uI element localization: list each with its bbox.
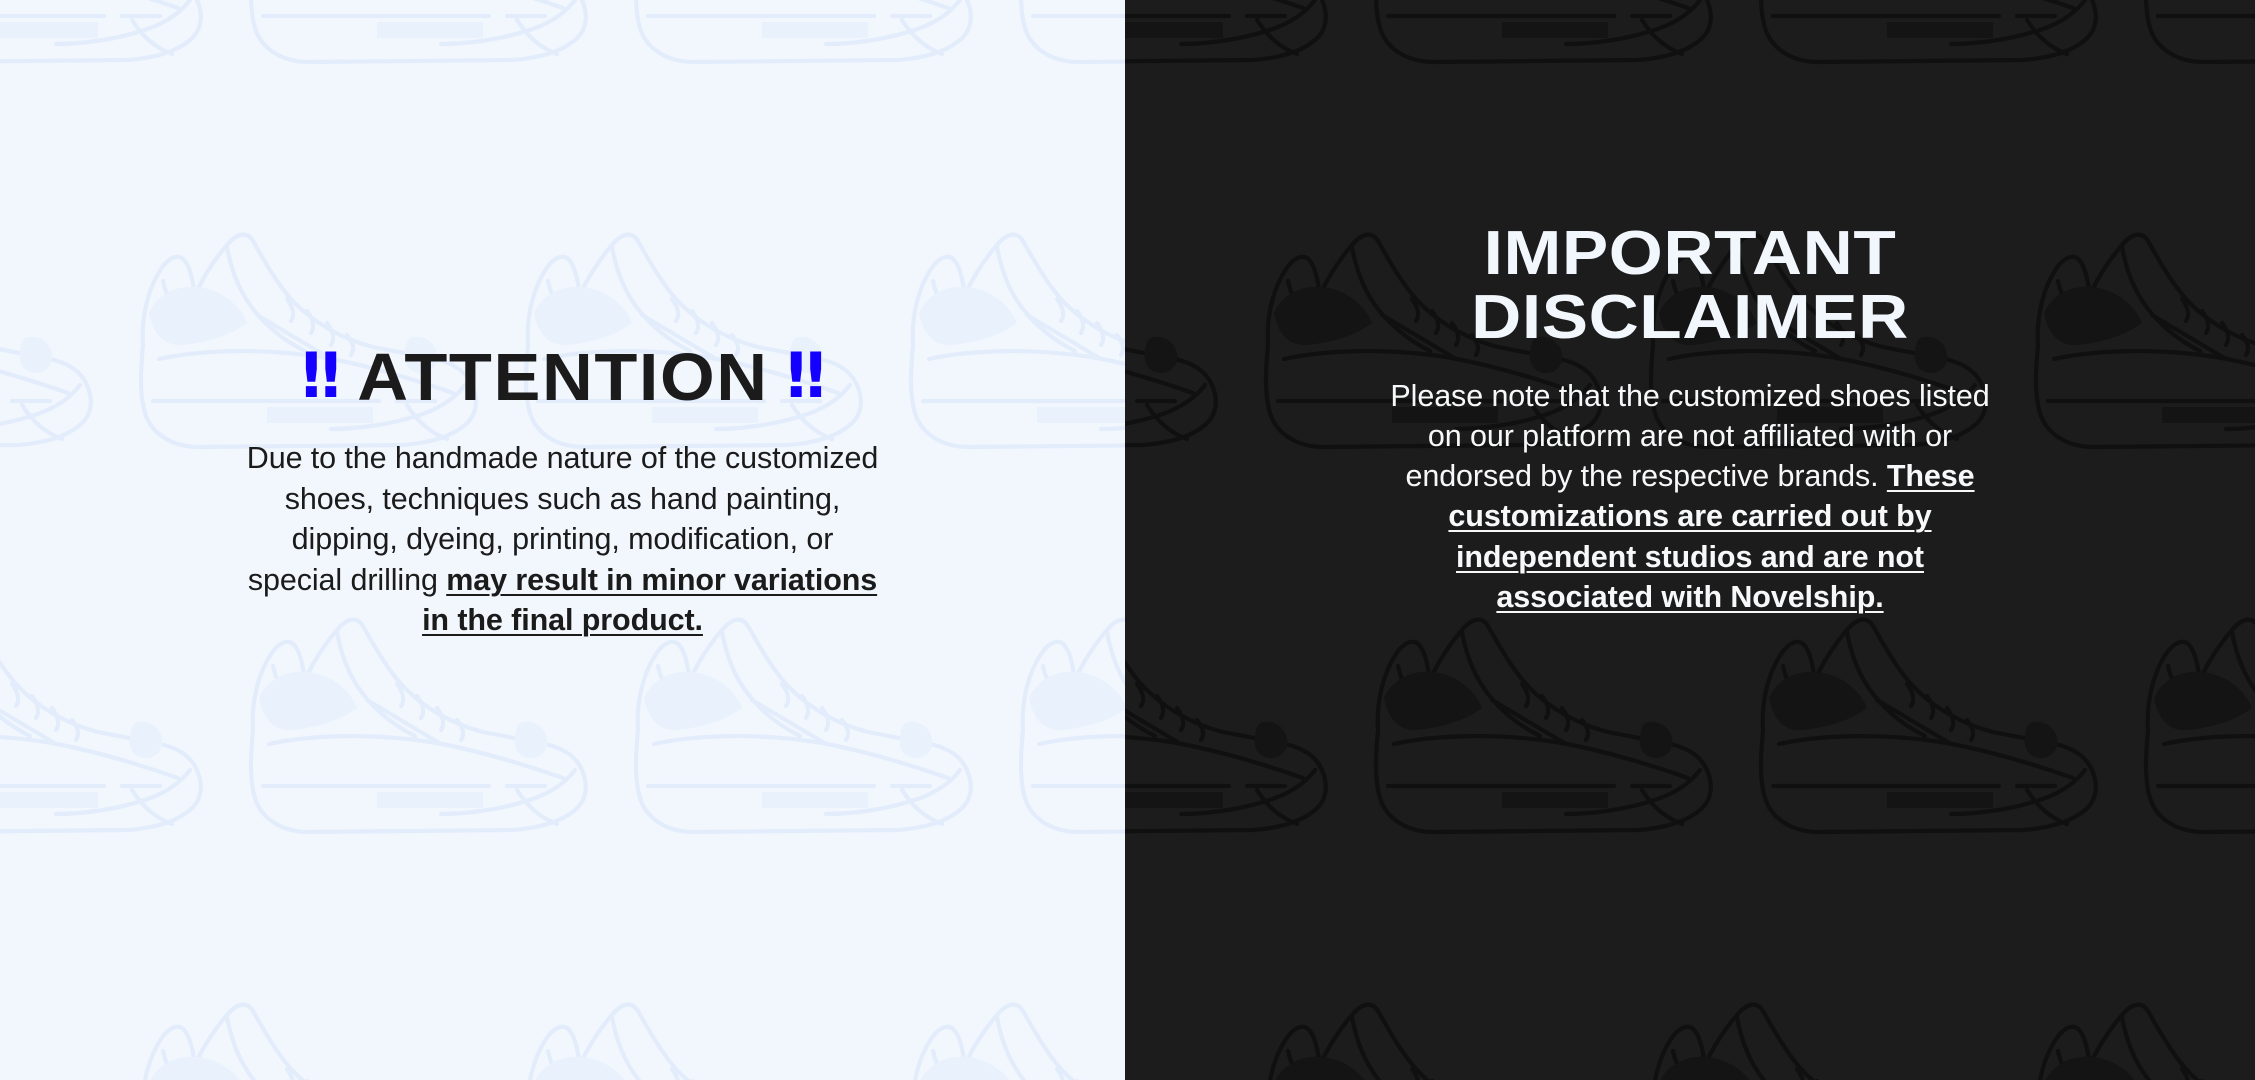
attention-body: Due to the handmade nature of the custom…: [243, 438, 883, 641]
customization-notice-banner: ‼ ATTENTION ‼ Due to the handmade nature…: [0, 0, 2255, 1080]
disclaimer-content: IMPORTANT DISCLAIMER Please note that th…: [1125, 0, 2255, 617]
disclaimer-body: Please note that the customized shoes li…: [1378, 376, 2003, 618]
attention-heading-word: ATTENTION: [357, 344, 768, 411]
attention-content: ‼ ATTENTION ‼ Due to the handmade nature…: [0, 0, 1125, 641]
attention-heading: ‼ ATTENTION ‼: [302, 344, 824, 411]
double-exclamation-icon-right: ‼: [786, 345, 823, 407]
double-exclamation-icon-left: ‼: [302, 345, 339, 407]
disclaimer-heading-line-2: DISCLAIMER: [1264, 286, 2115, 350]
attention-body-emphasis: may result in minor variations in the fi…: [422, 563, 877, 638]
disclaimer-heading: IMPORTANT DISCLAIMER: [1264, 222, 2115, 350]
disclaimer-panel: IMPORTANT DISCLAIMER Please note that th…: [1125, 0, 2255, 1080]
disclaimer-heading-line-1: IMPORTANT: [1264, 222, 2115, 286]
attention-panel: ‼ ATTENTION ‼ Due to the handmade nature…: [0, 0, 1125, 1080]
